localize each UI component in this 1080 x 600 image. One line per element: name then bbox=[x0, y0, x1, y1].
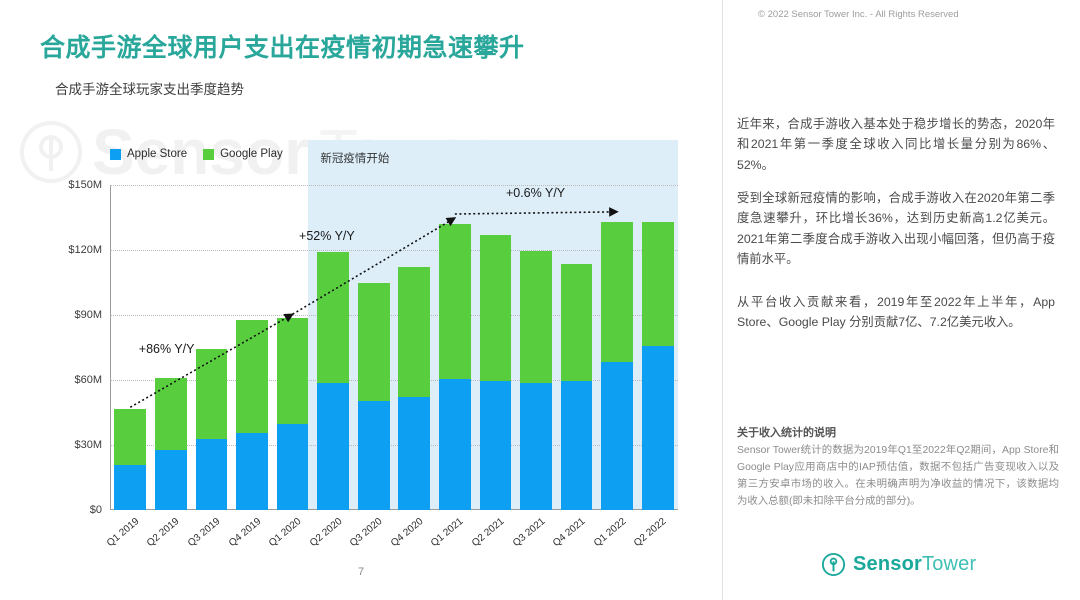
y-axis-tick-label: $120M bbox=[68, 244, 102, 256]
x-axis-tick-label: Q1 2022 bbox=[592, 516, 628, 549]
bar-segment-google-play[interactable] bbox=[520, 251, 552, 383]
legend-label-apple-store: Apple Store bbox=[127, 148, 187, 160]
legend-swatch-google-play bbox=[203, 149, 214, 160]
bar-stack[interactable]: Q2 2021 bbox=[480, 185, 512, 510]
bar-segment-google-play[interactable] bbox=[358, 283, 390, 401]
x-axis-tick-label: Q2 2020 bbox=[308, 516, 344, 549]
bar-segment-apple-store[interactable] bbox=[520, 383, 552, 510]
growth-annotation-label: +52% Y/Y bbox=[299, 229, 355, 243]
bar-segment-google-play[interactable] bbox=[642, 222, 674, 347]
y-axis-tick-label: $30M bbox=[74, 439, 102, 451]
x-axis-tick-label: Q1 2019 bbox=[105, 516, 141, 549]
column-divider bbox=[722, 0, 723, 600]
slide-page: 合成手游全球用户支出在疫情初期急速攀升 合成手游全球玩家支出季度趋势 Senso… bbox=[0, 0, 1080, 600]
bar-segment-apple-store[interactable] bbox=[398, 397, 430, 510]
legend-swatch-apple-store bbox=[110, 149, 121, 160]
bar-segment-google-play[interactable] bbox=[114, 409, 146, 464]
covid-region-label: 新冠疫情开始 bbox=[320, 150, 389, 166]
y-axis-tick-label: $0 bbox=[90, 504, 102, 516]
page-number: 7 bbox=[0, 566, 722, 578]
methodology-note: 关于收入统计的说明 Sensor Tower统计的数据为2019年Q1至2022… bbox=[737, 424, 1059, 510]
bar-segment-apple-store[interactable] bbox=[480, 381, 512, 510]
growth-annotation-label: +86% Y/Y bbox=[139, 342, 195, 356]
bar-segment-apple-store[interactable] bbox=[358, 401, 390, 510]
bar-segment-apple-store[interactable] bbox=[439, 379, 471, 510]
chart-subtitle: 合成手游全球玩家支出季度趋势 bbox=[55, 78, 244, 98]
x-axis-tick-label: Q4 2021 bbox=[551, 516, 587, 549]
copyright-notice: © 2022 Sensor Tower Inc. - All Rights Re… bbox=[758, 9, 959, 20]
bar-stack[interactable]: Q4 2019 bbox=[236, 185, 268, 510]
bar-segment-google-play[interactable] bbox=[480, 235, 512, 381]
bar-segment-google-play[interactable] bbox=[196, 349, 228, 439]
chart-legend: Apple Store Google Play bbox=[110, 148, 283, 160]
bar-segment-apple-store[interactable] bbox=[236, 433, 268, 510]
growth-annotation-label: +0.6% Y/Y bbox=[506, 186, 565, 200]
bar-stack[interactable]: Q4 2020 bbox=[398, 185, 430, 510]
y-axis-tick-label: $60M bbox=[74, 374, 102, 386]
bar-segment-google-play[interactable] bbox=[277, 318, 309, 424]
x-axis-tick-label: Q2 2022 bbox=[632, 516, 668, 549]
methodology-note-title: 关于收入统计的说明 bbox=[737, 424, 1059, 440]
bar-segment-google-play[interactable] bbox=[601, 222, 633, 362]
bar-segment-google-play[interactable] bbox=[236, 320, 268, 433]
body-paragraph-3: 从平台收入贡献来看，2019年至2022年上半年，App Store、Googl… bbox=[737, 292, 1055, 333]
bar-stack[interactable]: Q2 2022 bbox=[642, 185, 674, 510]
body-paragraph-1: 近年来，合成手游收入基本处于稳步增长的势态，2020年和2021年第一季度全球收… bbox=[737, 114, 1055, 175]
bar-segment-google-play[interactable] bbox=[317, 252, 349, 383]
bar-segment-google-play[interactable] bbox=[155, 378, 187, 451]
body-paragraph-2: 受到全球新冠疫情的影响，合成手游收入在2020年第二季度急速攀升，环比增长36%… bbox=[737, 188, 1055, 269]
x-axis-tick-label: Q3 2021 bbox=[511, 516, 547, 549]
bar-stack[interactable]: Q4 2021 bbox=[561, 185, 593, 510]
brand-word-bold: Sensor bbox=[853, 553, 922, 575]
x-axis-tick-label: Q4 2019 bbox=[227, 516, 263, 549]
legend-label-google-play: Google Play bbox=[220, 148, 283, 160]
bar-segment-apple-store[interactable] bbox=[155, 450, 187, 510]
y-axis-line bbox=[110, 185, 111, 510]
bar-segment-apple-store[interactable] bbox=[196, 439, 228, 511]
x-axis-tick-label: Q2 2019 bbox=[145, 516, 181, 549]
bar-stack[interactable]: Q3 2021 bbox=[520, 185, 552, 510]
quarterly-revenue-chart: Apple Store Google Play $0$30M$60M$90M$1… bbox=[55, 140, 695, 515]
x-axis-tick-label: Q3 2019 bbox=[186, 516, 222, 549]
brand-word-light: Tower bbox=[922, 553, 976, 575]
bar-stack[interactable]: Q1 2021 bbox=[439, 185, 471, 510]
x-axis-tick-label: Q1 2021 bbox=[429, 516, 465, 549]
sensor-tower-mark-icon bbox=[821, 552, 846, 577]
gridline bbox=[110, 510, 678, 511]
x-axis-tick-label: Q4 2020 bbox=[389, 516, 425, 549]
bar-segment-apple-store[interactable] bbox=[277, 424, 309, 510]
bar-segment-apple-store[interactable] bbox=[114, 465, 146, 511]
page-title: 合成手游全球用户支出在疫情初期急速攀升 bbox=[40, 28, 525, 64]
bar-segment-google-play[interactable] bbox=[398, 267, 430, 397]
brand-wordmark: SensorTower bbox=[853, 553, 976, 576]
x-axis-tick-label: Q3 2020 bbox=[348, 516, 384, 549]
bar-stack[interactable]: Q3 2019 bbox=[196, 185, 228, 510]
bar-stack[interactable]: Q1 2022 bbox=[601, 185, 633, 510]
x-axis-tick-label: Q1 2020 bbox=[267, 516, 303, 549]
legend-item-apple-store[interactable]: Apple Store bbox=[110, 148, 187, 160]
legend-item-google-play[interactable]: Google Play bbox=[203, 148, 283, 160]
bar-segment-apple-store[interactable] bbox=[601, 362, 633, 510]
bar-stack[interactable]: Q3 2020 bbox=[358, 185, 390, 510]
bar-segment-apple-store[interactable] bbox=[642, 346, 674, 510]
chart-plot-area: $0$30M$60M$90M$120M$150M新冠疫情开始Q1 2019Q2 … bbox=[110, 185, 678, 510]
bar-segment-apple-store[interactable] bbox=[317, 383, 349, 510]
bar-segment-apple-store[interactable] bbox=[561, 381, 593, 510]
bar-segment-google-play[interactable] bbox=[561, 264, 593, 381]
bar-segment-google-play[interactable] bbox=[439, 224, 471, 379]
y-axis-tick-label: $90M bbox=[74, 309, 102, 321]
y-axis-tick-label: $150M bbox=[68, 179, 102, 191]
sensor-tower-logo: SensorTower bbox=[821, 552, 976, 577]
methodology-note-body: Sensor Tower统计的数据为2019年Q1至2022年Q2期间，App … bbox=[737, 443, 1059, 510]
x-axis-tick-label: Q2 2021 bbox=[470, 516, 506, 549]
